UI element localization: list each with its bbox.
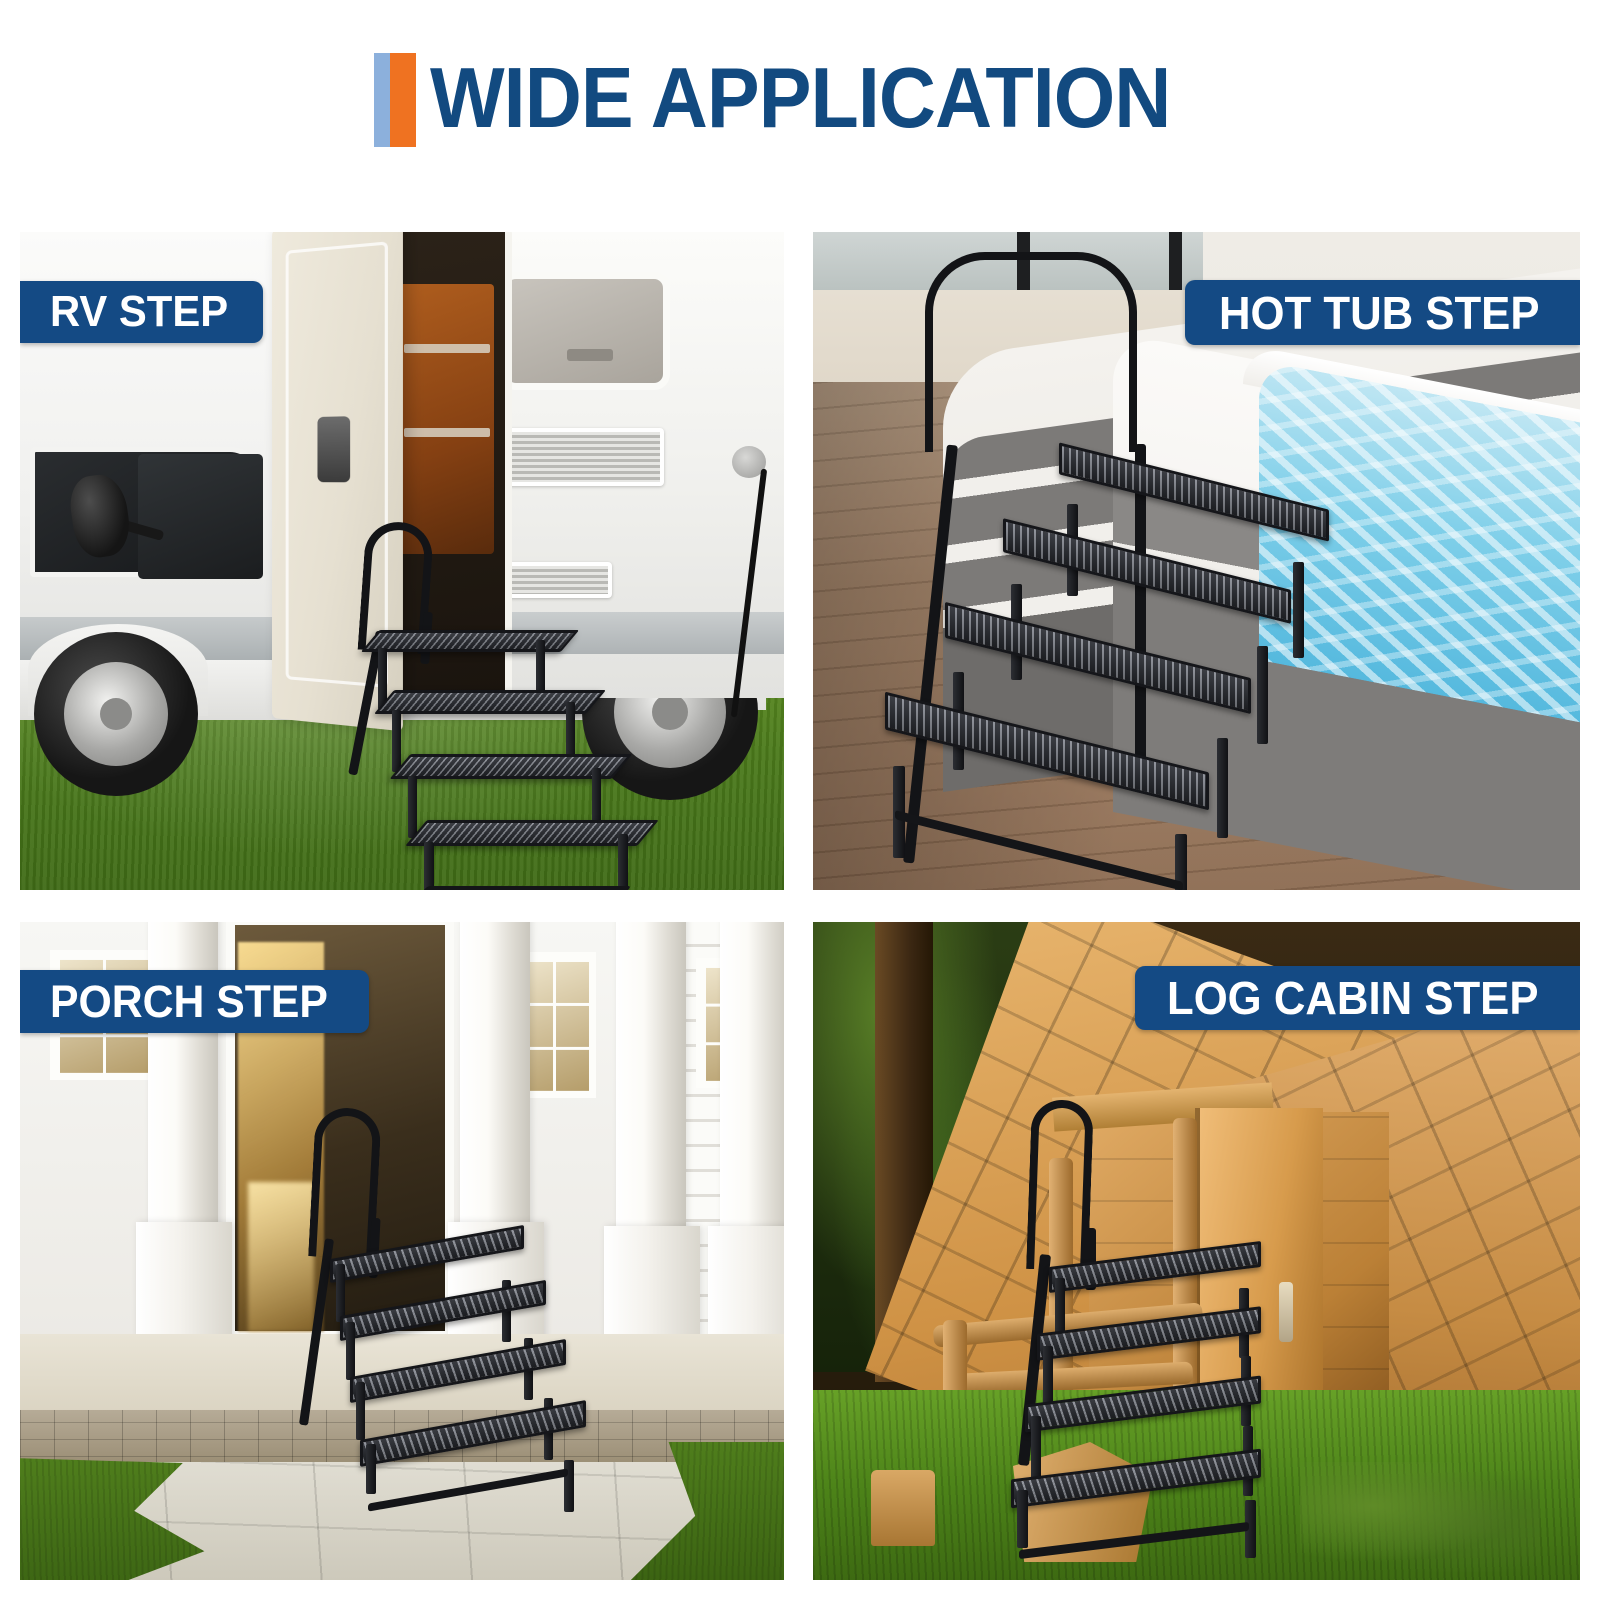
- leg-1a: [366, 1444, 376, 1494]
- panel-rv-step[interactable]: RV STEP: [20, 232, 784, 890]
- rv-vent-lower: [506, 562, 612, 598]
- panel-grid: RV STEP: [20, 232, 1580, 1580]
- cabin-tree-stump: [871, 1470, 935, 1546]
- badge-rv-step-label: RV STEP: [50, 287, 228, 337]
- leg-1b: [618, 834, 628, 890]
- infographic-page: WIDE APPLICATION: [0, 0, 1600, 1600]
- leg-4b: [1293, 562, 1304, 658]
- header-inner: WIDE APPLICATION: [374, 53, 1226, 147]
- leg-3a: [392, 710, 401, 772]
- base-rail: [421, 886, 632, 890]
- leg-1a: [424, 842, 434, 890]
- handrail-curve-icon: [1026, 1099, 1094, 1271]
- rv-front-hub: [100, 698, 132, 730]
- tread-4: [361, 630, 579, 652]
- handrail-curve-icon: [925, 252, 1137, 452]
- panel-hot-tub-step[interactable]: HOT TUB STEP: [813, 232, 1580, 890]
- tread-3: [1037, 1306, 1261, 1361]
- tread-2: [350, 1339, 566, 1403]
- porch-step-product: [292, 1244, 592, 1494]
- panel-log-cabin-step[interactable]: LOG CABIN STEP: [813, 922, 1580, 1580]
- tread-3: [1003, 518, 1291, 624]
- tread-1: [1011, 1449, 1261, 1509]
- hottub-step-product: [869, 474, 1309, 874]
- tread-2: [1025, 1376, 1261, 1433]
- leg-2a: [356, 1382, 365, 1440]
- rv-vent-upper: [504, 428, 664, 486]
- panel-porch-step[interactable]: PORCH STEP: [20, 922, 784, 1580]
- rv-side-window: [500, 272, 670, 390]
- rv-door-handle: [317, 416, 350, 482]
- badge-hot-tub-step-label: HOT TUB STEP: [1219, 286, 1539, 340]
- leg-4a: [336, 1264, 345, 1322]
- leg-3a: [346, 1322, 355, 1380]
- cabin-step-product: [993, 1258, 1333, 1548]
- rv-interior-wall: [398, 284, 494, 554]
- leg-2a: [408, 776, 417, 838]
- handrail-post: [299, 1238, 334, 1425]
- leg-2b: [1217, 738, 1228, 838]
- tread-3: [340, 1280, 546, 1341]
- tread-1: [885, 692, 1209, 811]
- hottub-mullion-2: [1169, 232, 1182, 294]
- accent-bar-orange-icon: [390, 53, 416, 147]
- accent-bar-blue-icon: [374, 53, 390, 147]
- badge-hot-tub-step[interactable]: HOT TUB STEP: [1185, 280, 1580, 345]
- badge-porch-step[interactable]: PORCH STEP: [20, 970, 369, 1033]
- rv-step-product: [350, 634, 680, 890]
- leg-1a: [1017, 1490, 1028, 1548]
- badge-porch-step-label: PORCH STEP: [50, 976, 328, 1028]
- page-header: WIDE APPLICATION: [0, 0, 1600, 200]
- cabin-bush: [1300, 1462, 1540, 1572]
- leg-2a: [1031, 1416, 1041, 1482]
- page-title: WIDE APPLICATION: [430, 53, 1170, 147]
- badge-rv-step[interactable]: RV STEP: [20, 281, 263, 343]
- badge-log-cabin-step[interactable]: LOG CABIN STEP: [1135, 966, 1580, 1030]
- tread-2: [945, 602, 1251, 714]
- rv-interior-shelf-1: [404, 344, 490, 353]
- porch-column-base-1: [136, 1222, 232, 1348]
- badge-log-cabin-step-label: LOG CABIN STEP: [1167, 971, 1538, 1025]
- rv-cab-window: [138, 454, 263, 579]
- handrail-post-near: [903, 445, 958, 864]
- leg-3b: [1257, 646, 1268, 744]
- rv-interior-shelf-2: [404, 428, 490, 437]
